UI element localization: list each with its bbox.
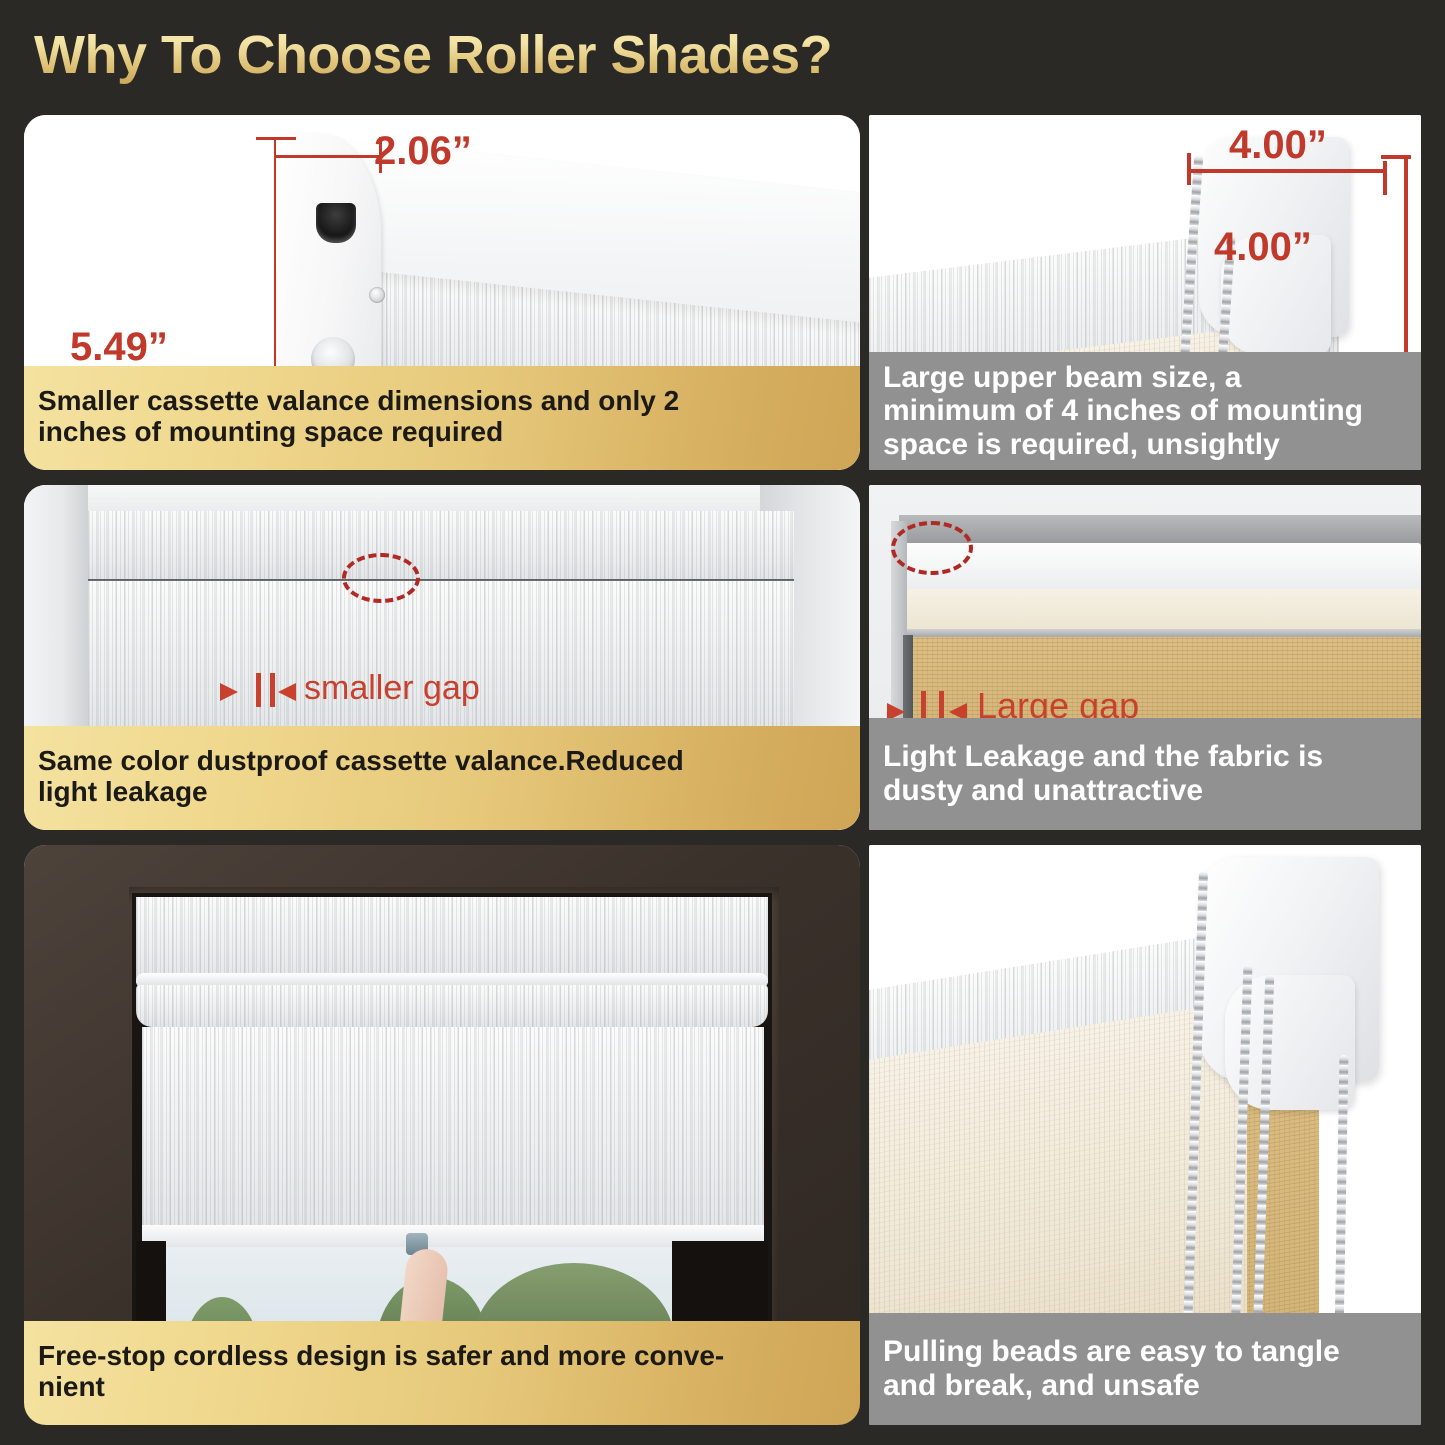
beam-width-tick-right <box>1383 161 1387 195</box>
shade-headrail <box>136 897 768 983</box>
caption-line-2: nient <box>38 1371 724 1402</box>
caption-dustproof-cassette: Same color dustproof cassette valance.Re… <box>24 726 860 830</box>
panel-cassette-valance: 5.49” 2.06” Smaller cassette valance dim… <box>24 115 860 470</box>
gap-arrow-left-icon <box>278 683 296 701</box>
gap-arrow-right-icon <box>220 683 238 701</box>
caption-light-leakage: Light Leakage and the fabric is dusty an… <box>869 718 1421 830</box>
height-dim-tick-top <box>256 137 296 140</box>
caption-pulling-beads: Pulling beads are easy to tangle and bre… <box>869 1313 1421 1425</box>
caption-line-1: Same color dustproof cassette valance.Re… <box>38 745 684 776</box>
gap-highlight-ellipse <box>891 521 973 575</box>
panel-pulling-beads: Pulling beads are easy to tangle and bre… <box>869 845 1421 1425</box>
page-title: Why To Choose Roller Shades? <box>34 24 832 86</box>
cassette-valance <box>88 511 794 581</box>
shade-fabric <box>142 1027 764 1231</box>
beam-width-label: 4.00” <box>1229 123 1327 168</box>
caption-line-2: inches of mounting space required <box>38 416 679 447</box>
shade-bottom-bar <box>142 1225 764 1247</box>
valance-screw <box>369 287 385 303</box>
caption-line-3: space is required, unsightly <box>883 428 1363 462</box>
caption-line-1: Light Leakage and the fabric is <box>883 740 1323 774</box>
headrail-roll <box>136 985 768 1027</box>
caption-line-2: minimum of 4 inches of mounting <box>883 394 1363 428</box>
caption-line-2: dusty and unattractive <box>883 774 1323 808</box>
beam-width-dim-line <box>1187 169 1387 173</box>
caption-line-1: Free-stop cordless design is safer and m… <box>38 1340 724 1371</box>
title-bar: Why To Choose Roller Shades? <box>0 0 1445 105</box>
beam-width-tick-left <box>1187 153 1191 185</box>
caption-cordless-design: Free-stop cordless design is safer and m… <box>24 1321 860 1425</box>
width-dim-line <box>274 155 382 158</box>
panel-cordless-design: Free-stop cordless design is safer and m… <box>24 845 860 1425</box>
cream-fabric-band <box>907 589 1421 631</box>
beam-height-label: 4.00” <box>1214 225 1312 270</box>
gap-highlight-ellipse <box>342 553 420 603</box>
caption-line-1: Pulling beads are easy to tangle <box>883 1335 1340 1369</box>
width-dim-label: 2.06” <box>374 129 472 174</box>
caption-cassette-valance: Smaller cassette valance dimensions and … <box>24 366 860 470</box>
beam-height-tick-top <box>1381 155 1411 159</box>
caption-large-upper-beam: Large upper beam size, a minimum of 4 in… <box>869 352 1421 470</box>
shade-fabric <box>88 581 794 731</box>
comparison-grid: 5.49” 2.06” Smaller cassette valance dim… <box>0 105 1445 1445</box>
caption-line-2: and break, and unsafe <box>883 1369 1340 1403</box>
height-dim-label: 5.49” <box>70 325 168 370</box>
caption-line-1: Smaller cassette valance dimensions and … <box>38 385 679 416</box>
gap-marker-right <box>270 673 275 707</box>
panel-light-leakage: Large gap Light Leakage and the fabric i… <box>869 485 1421 830</box>
panel-large-upper-beam: 4.00” 4.00” Large upper beam size, a min… <box>869 115 1421 470</box>
smaller-gap-label: smaller gap <box>304 669 480 708</box>
valance-slot <box>316 203 356 243</box>
height-dim-line <box>274 137 276 399</box>
panel-dustproof-cassette: smaller gap Same color dustproof cassett… <box>24 485 860 830</box>
caption-line-2: light leakage <box>38 776 684 807</box>
gap-marker-left <box>256 673 261 707</box>
caption-line-1: Large upper beam size, a <box>883 361 1363 395</box>
